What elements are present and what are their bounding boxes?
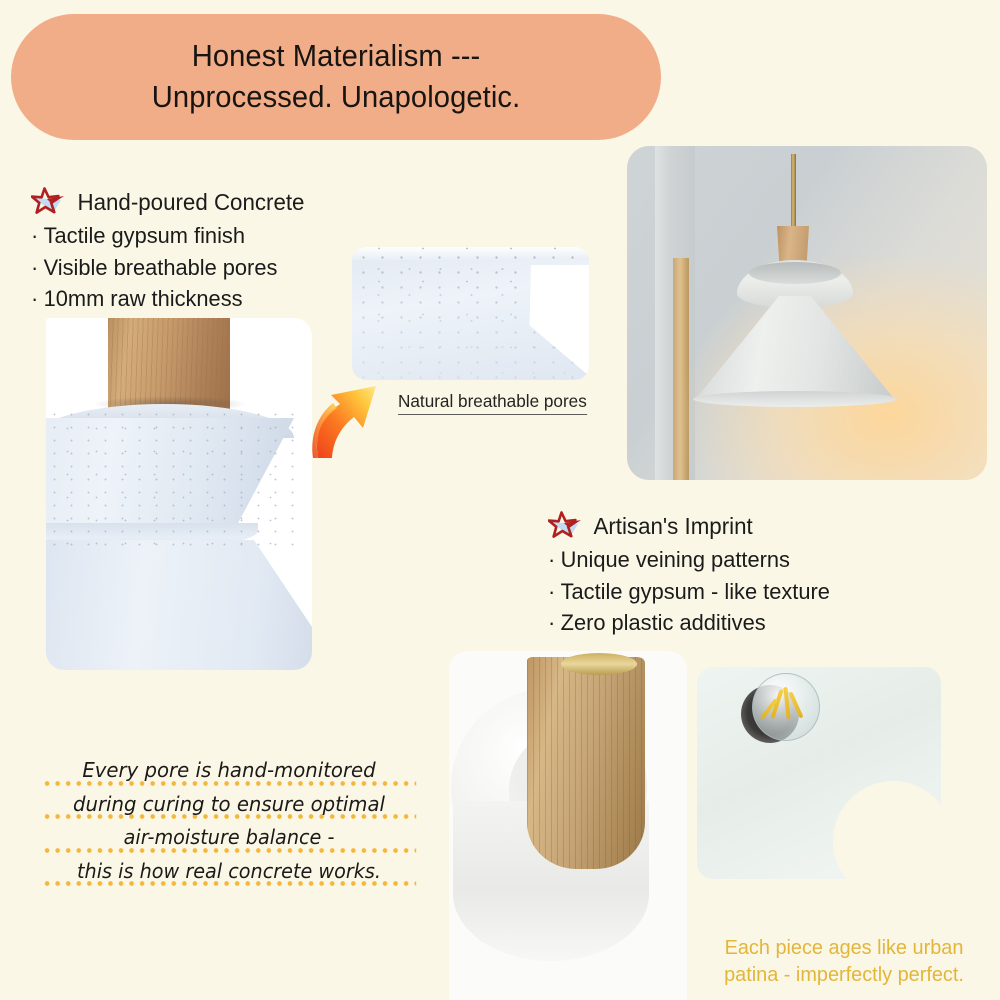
- list-item: ·Zero plastic additives: [548, 607, 830, 639]
- list-item: ·Unique veining patterns: [548, 544, 830, 576]
- note-line: Every pore is hand-monitored: [42, 760, 416, 789]
- feature-hand-poured-concrete: Hand-poured Concrete ·Tactile gypsum fin…: [31, 187, 308, 315]
- wood-socket-and-concrete-bowl-photo: [449, 651, 687, 1000]
- star-icon: [31, 187, 65, 217]
- bullet-text: Zero plastic additives: [561, 610, 766, 635]
- feature-heading: Hand-poured Concrete: [78, 189, 305, 216]
- bullet-text: Unique veining patterns: [561, 547, 790, 572]
- note-line: during curing to ensure optimal: [42, 794, 416, 823]
- shade-bowl-inner: [749, 262, 841, 284]
- feature-bullet-list: ·Tactile gypsum finish ·Visible breathab…: [31, 220, 308, 315]
- note-line: air-moisture balance -: [42, 827, 416, 855]
- bullet-text: Tactile gypsum finish: [44, 223, 245, 248]
- bullet-mark: ·: [31, 252, 44, 284]
- bullet-mark: ·: [31, 283, 44, 315]
- wood-cylinder: [527, 657, 645, 869]
- callout-arrow: [300, 368, 392, 460]
- filament-bulb-inside-shade-photo: [697, 667, 941, 879]
- shade-lower-cone: [46, 540, 312, 670]
- header-banner: Honest Materialism --- Unprocessed. Unap…: [11, 14, 661, 140]
- pendant-lamp-room-photo: [627, 146, 987, 480]
- bullet-text: 10mm raw thickness: [44, 286, 243, 311]
- concrete-shade-closeup-photo: [46, 318, 312, 670]
- list-item: ·Visible breathable pores: [31, 252, 300, 284]
- caption-natural-breathable-pores: Natural breathable pores: [398, 391, 587, 415]
- handwritten-note: Every pore is hand-monitored during curi…: [34, 760, 424, 894]
- feature-heading-row: Hand-poured Concrete: [31, 187, 308, 217]
- pore-texture: [46, 408, 296, 548]
- bullet-mark: ·: [31, 220, 44, 252]
- bullet-text: Tactile gypsum - like texture: [561, 579, 830, 604]
- feature-bullet-list: ·Unique veining patterns ·Tactile gypsum…: [548, 544, 839, 639]
- porous-surface-macro-photo: [352, 247, 589, 380]
- bullet-mark: ·: [548, 607, 561, 639]
- shade-rim: [693, 391, 897, 407]
- feature-heading-row: Artisan's Imprint: [548, 511, 839, 541]
- bullet-text: Visible breathable pores: [44, 255, 278, 280]
- brass-rod: [791, 154, 796, 232]
- feature-artisans-imprint: Artisan's Imprint ·Unique veining patter…: [548, 511, 839, 639]
- list-item: ·Tactile gypsum - like texture: [548, 576, 830, 608]
- poster-canvas: Honest Materialism --- Unprocessed. Unap…: [0, 0, 1000, 1000]
- star-icon: [548, 511, 582, 541]
- page-title: Honest Materialism --- Unprocessed. Unap…: [152, 36, 521, 118]
- list-item: ·Tactile gypsum finish: [31, 220, 300, 252]
- brass-ring: [561, 653, 637, 675]
- feature-heading: Artisan's Imprint: [593, 513, 752, 540]
- bullet-mark: ·: [548, 576, 561, 608]
- note-line: this is how real concrete works.: [42, 861, 416, 889]
- list-item: ·10mm raw thickness: [31, 283, 300, 315]
- caption-patina: Each piece ages like urban patina - impe…: [704, 934, 983, 988]
- bullet-mark: ·: [548, 544, 561, 576]
- shade-rim-cutout: [833, 781, 941, 879]
